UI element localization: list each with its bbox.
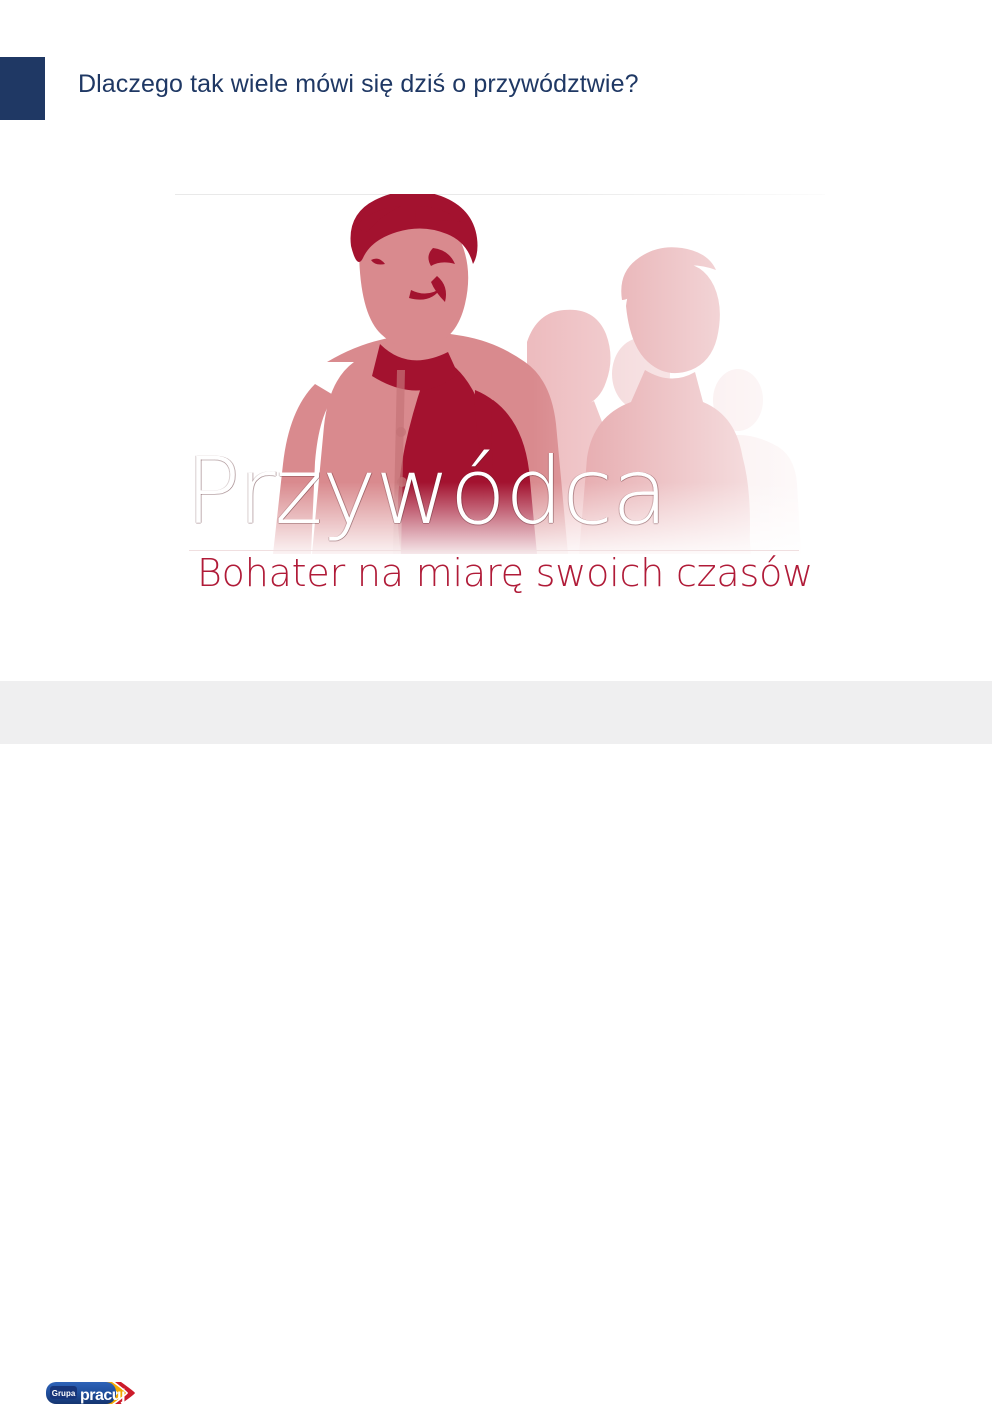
figure-silhouettes [175, 194, 825, 554]
slide-footer: Grupa pracuj [0, 681, 992, 744]
svg-text:Grupa: Grupa [52, 1389, 76, 1398]
page-title: Dlaczego tak wiele mówi się dziś o przyw… [78, 70, 938, 99]
leader-illustration: Przywódca Bohater na miarę swoich czasów [175, 194, 825, 602]
illustration-tagline: Bohater na miarę swoich czasów [195, 552, 815, 595]
slide-canvas: Dlaczego tak wiele mówi się dziś o przyw… [0, 0, 992, 744]
svg-text:pracuj: pracuj [80, 1387, 125, 1404]
title-accent-block [0, 57, 45, 120]
grupa-pracuj-logo: Grupa pracuj [45, 1380, 155, 1406]
